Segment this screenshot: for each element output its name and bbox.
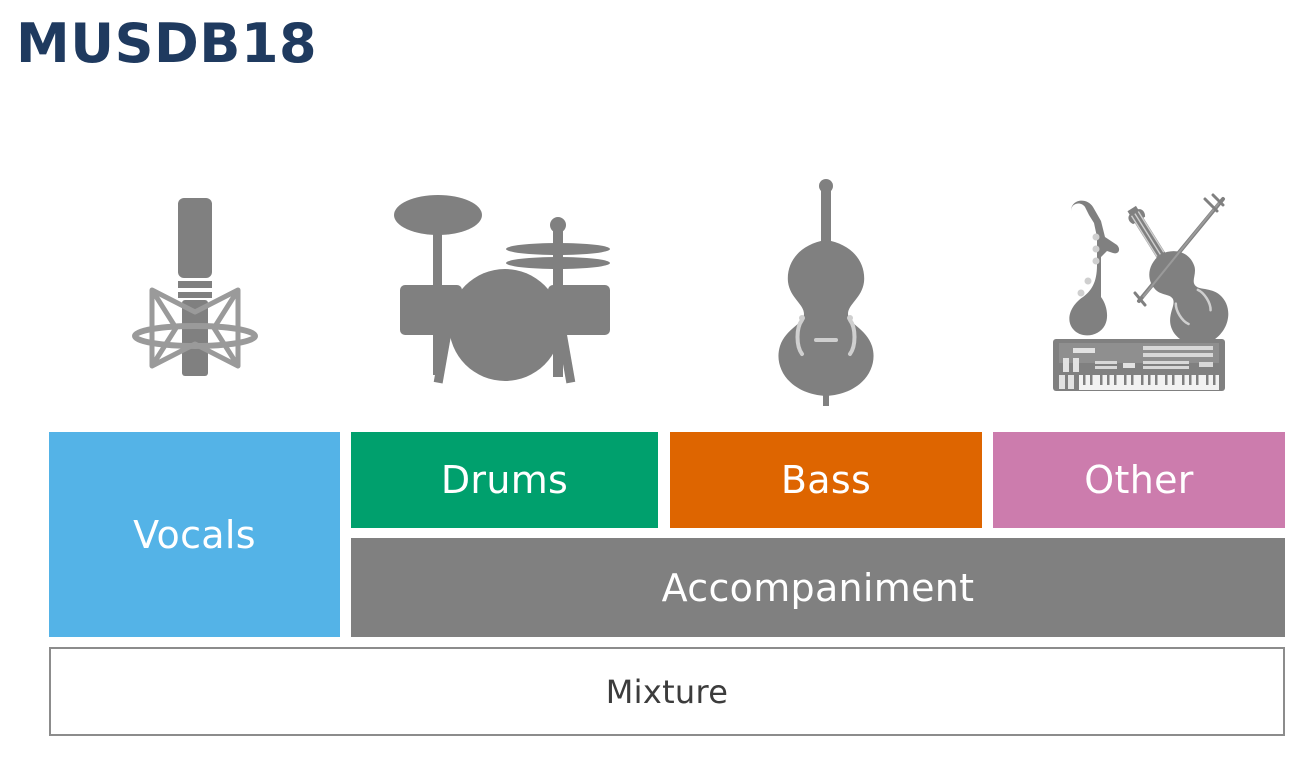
diagram-canvas: MUSDB18 — [0, 0, 1300, 767]
stem-block-vocals[interactable]: Vocals — [49, 432, 340, 637]
other-instruments-icon — [993, 170, 1285, 415]
stem-block-bass[interactable]: Bass — [670, 432, 982, 528]
page-title: MUSDB18 — [16, 14, 317, 73]
stem-block-accompaniment[interactable]: Accompaniment — [351, 538, 1285, 637]
instrument-icon-row — [49, 170, 1285, 415]
stem-block-mixture[interactable]: Mixture — [49, 647, 1285, 736]
microphone-icon — [49, 170, 340, 415]
double-bass-icon — [670, 170, 982, 415]
stem-block-other[interactable]: Other — [993, 432, 1285, 528]
drum-kit-icon — [351, 170, 658, 415]
stem-block-drums[interactable]: Drums — [351, 432, 658, 528]
